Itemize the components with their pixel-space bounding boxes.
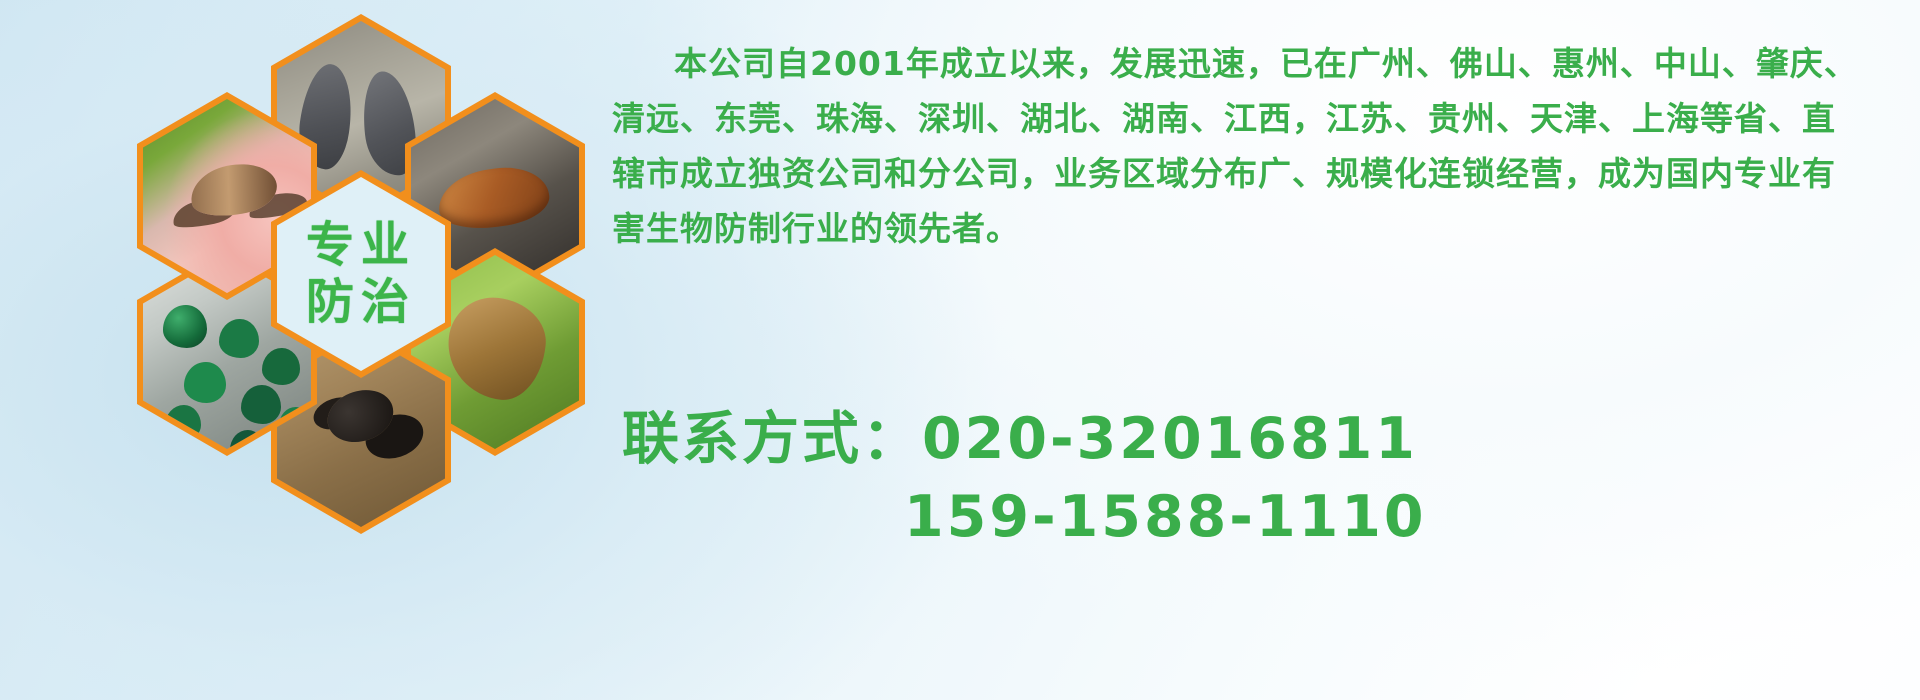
slogan-text: 专业 防治 xyxy=(306,217,416,330)
company-intro-paragraph: 本公司自2001年成立以来，发展迅速，已在广州、佛山、惠州、中山、肇庆、清远、东… xyxy=(612,36,1868,256)
slogan-line-1: 专业 xyxy=(306,217,416,274)
hexagon-photo-cluster: 专业 防治 xyxy=(85,0,605,592)
slogan-hexagon-frame: 专业 防治 xyxy=(277,177,445,371)
contact-line-secondary[interactable]: 159-1588-1110 xyxy=(622,478,1882,556)
promo-banner: 专业 防治 本公司自2001年成立以来，发展迅速，已在广州、佛山、惠州、中山、肇… xyxy=(0,0,1920,700)
slogan-line-2: 防治 xyxy=(306,274,416,331)
contact-line-primary[interactable]: 联系方式：020-32016811 xyxy=(622,400,1882,478)
company-intro: 本公司自2001年成立以来，发展迅速，已在广州、佛山、惠州、中山、肇庆、清远、东… xyxy=(612,36,1868,256)
contact-block: 联系方式：020-32016811 159-1588-1110 xyxy=(622,400,1882,556)
